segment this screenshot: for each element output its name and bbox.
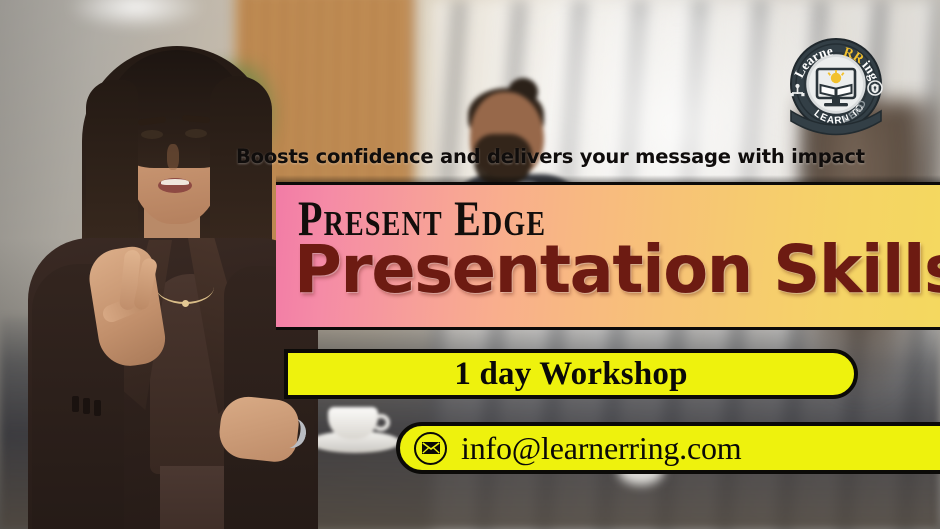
- woman-nose: [167, 144, 179, 170]
- page-title: Presentation Skills: [294, 237, 940, 303]
- woman-eye-right: [185, 129, 207, 138]
- woman-eye-left: [141, 130, 163, 139]
- envelope-icon: [414, 432, 447, 465]
- woman-cuff-button: [83, 398, 90, 414]
- email-address: info@learnerring.com: [461, 430, 741, 467]
- woman-teeth: [161, 179, 189, 185]
- tagline: Boosts confidence and delivers your mess…: [236, 145, 865, 168]
- workshop-label: 1 day Workshop: [454, 356, 687, 393]
- coffee-cup: [310, 405, 400, 457]
- cup-handle: [372, 414, 390, 431]
- promotional-poster: Boosts confidence and delivers your mess…: [0, 0, 940, 529]
- workshop-badge: 1 day Workshop: [284, 349, 858, 399]
- title-band: Present Edge Presentation Skills: [276, 182, 940, 330]
- learnerring-logo[interactable]: Learne RR ing LEARN TO LEAD: [783, 33, 889, 139]
- contact-email-bar[interactable]: info@learnerring.com: [396, 422, 940, 474]
- woman-pendant: [182, 300, 189, 307]
- woman-cuff-button: [94, 400, 101, 416]
- woman-cuff-button: [72, 396, 79, 412]
- woman-necklace: [156, 270, 214, 304]
- presenter-woman: [10, 26, 320, 529]
